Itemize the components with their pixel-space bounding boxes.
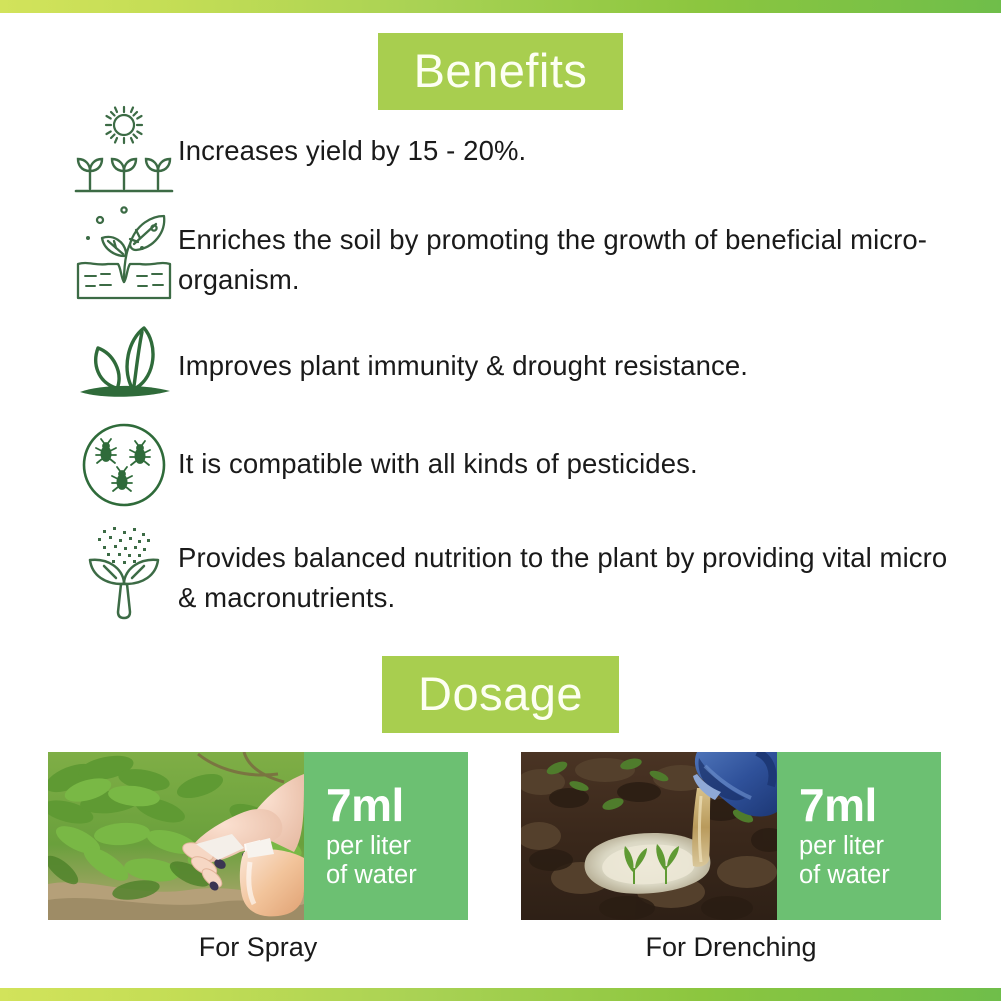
top-accent-bar xyxy=(0,0,1001,13)
dosage-amount: 7ml xyxy=(326,782,468,828)
dosage-panel-spray: 7ml per liter of water xyxy=(304,752,468,920)
list-item: Increases yield by 15 - 20%. xyxy=(70,103,950,198)
dosage-cards: 7ml per liter of water xyxy=(0,752,1001,982)
benefits-heading-badge: Benefits xyxy=(378,33,624,110)
insects-in-circle-icon xyxy=(70,422,178,508)
watering-can-drenching-soil-photo xyxy=(521,752,777,920)
dosage-card-spray: 7ml per liter of water xyxy=(48,752,468,920)
list-item-label: Provides balanced nutrition to the plant… xyxy=(178,522,950,617)
list-item-label: Enriches the soil by promoting the growt… xyxy=(178,206,950,299)
list-item-label: Increases yield by 15 - 20%. xyxy=(178,103,526,171)
dosage-unit-line-1: per liter xyxy=(326,832,468,861)
list-item: Improves plant immunity & drought resist… xyxy=(70,324,950,414)
hand-spraying-plant-photo xyxy=(48,752,304,920)
dosage-heading-row: Dosage xyxy=(0,656,1001,733)
dosage-amount: 7ml xyxy=(799,782,941,828)
bottom-accent-bar xyxy=(0,988,1001,1001)
dosage-unit-line-2: of water xyxy=(326,861,468,890)
benefits-heading-row: Benefits xyxy=(0,33,1001,110)
two-leaves-icon xyxy=(70,324,178,404)
dosage-unit-line-1: per liter xyxy=(799,832,941,861)
dosage-card-drench: 7ml per liter of water xyxy=(521,752,941,920)
list-item: Provides balanced nutrition to the plant… xyxy=(70,522,950,630)
plant-in-soil-icon xyxy=(70,206,178,302)
dosage-panel-drench: 7ml per liter of water xyxy=(777,752,941,920)
list-item-label: Improves plant immunity & drought resist… xyxy=(178,324,748,386)
benefits-list: Increases yield by 15 - 20%. xyxy=(70,103,950,638)
sun-over-sprouts-icon xyxy=(70,103,178,195)
dosage-heading-badge: Dosage xyxy=(382,656,619,733)
list-item: It is compatible with all kinds of pesti… xyxy=(70,422,950,514)
dosage-caption-drench: For Drenching xyxy=(521,932,941,963)
list-item: Enriches the soil by promoting the growt… xyxy=(70,206,950,316)
list-item-label: It is compatible with all kinds of pesti… xyxy=(178,422,698,484)
dosage-unit-line-2: of water xyxy=(799,861,941,890)
dosage-caption-spray: For Spray xyxy=(48,932,468,963)
sprout-with-nutrients-icon xyxy=(70,522,178,622)
